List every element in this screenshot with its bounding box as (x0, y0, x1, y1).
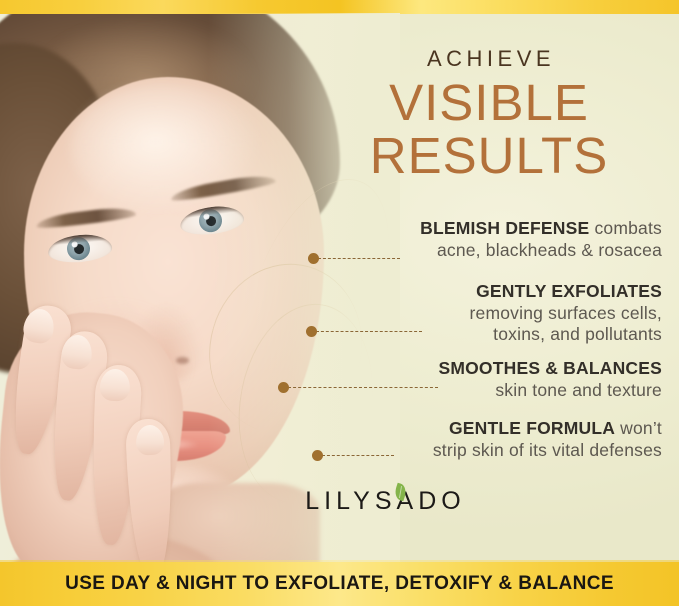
bottom-banner: USE DAY & NIGHT TO EXFOLIATE, DETOXIFY &… (0, 562, 679, 606)
feature-light-text: combats (589, 218, 662, 238)
feature-gently-exfoliates: GENTLY EXFOLIATES removing surfaces cell… (469, 281, 662, 346)
feature-strong-text: BLEMISH DEFENSE (420, 218, 589, 238)
feature-gentle-formula: GENTLE FORMULA won’t strip skin of its v… (433, 418, 662, 461)
connector-line-gently-exfoliates (316, 331, 422, 332)
feature-light-text: acne, blackheads & rosacea (437, 240, 662, 260)
feature-line: acne, blackheads & rosacea (420, 240, 662, 262)
feature-line: removing surfaces cells, (469, 303, 662, 325)
feature-line: GENTLE FORMULA won’t (433, 418, 662, 440)
feature-line: strip skin of its vital defenses (433, 440, 662, 462)
brand-logo-inner: LILYSADO (213, 487, 465, 516)
feature-line: skin tone and texture (438, 380, 662, 402)
headline-eyebrow: ACHIEVE (319, 48, 659, 70)
feature-strong-text: GENTLY EXFOLIATES (476, 281, 662, 301)
headline-line-1: VISIBLE (319, 79, 659, 128)
headline-line-2: RESULTS (319, 132, 659, 181)
feature-blemish-defense: BLEMISH DEFENSE combats acne, blackheads… (420, 218, 662, 261)
brand-logo: LILYSADO (0, 487, 679, 516)
feature-line: GENTLY EXFOLIATES (469, 281, 662, 303)
feature-line: SMOOTHES & BALANCES (438, 358, 662, 380)
connector-line-blemish-defense (318, 258, 400, 259)
feature-line: BLEMISH DEFENSE combats (420, 218, 662, 240)
feature-light-text: toxins, and pollutants (493, 324, 662, 344)
product-infographic-poster: ACHIEVE VISIBLE RESULTS BLEMISH DEFENSE … (0, 0, 679, 606)
top-accent-bar (0, 0, 679, 14)
connector-dot-smoothes-balances (278, 382, 289, 393)
feature-light-text: won’t (615, 418, 662, 438)
headline-block: ACHIEVE VISIBLE RESULTS (319, 48, 659, 181)
connector-dot-gently-exfoliates (306, 326, 317, 337)
feature-light-text: removing surfaces cells, (469, 303, 662, 323)
feature-strong-text: GENTLE FORMULA (449, 418, 615, 438)
feature-line: toxins, and pollutants (469, 324, 662, 346)
connector-line-gentle-formula (322, 455, 394, 456)
connector-line-smoothes-balances (288, 387, 438, 388)
connector-dot-gentle-formula (312, 450, 323, 461)
brand-name-part-2: SADO (375, 487, 466, 515)
feature-smoothes-balances: SMOOTHES & BALANCES skin tone and textur… (438, 358, 662, 401)
feature-light-text: strip skin of its vital defenses (433, 440, 662, 460)
bottom-banner-text: USE DAY & NIGHT TO EXFOLIATE, DETOXIFY &… (65, 573, 614, 595)
brand-name-part-1: LILY (305, 487, 375, 515)
connector-dot-blemish-defense (308, 253, 319, 264)
feature-light-text: skin tone and texture (495, 380, 662, 400)
feature-strong-text: SMOOTHES & BALANCES (438, 358, 662, 378)
